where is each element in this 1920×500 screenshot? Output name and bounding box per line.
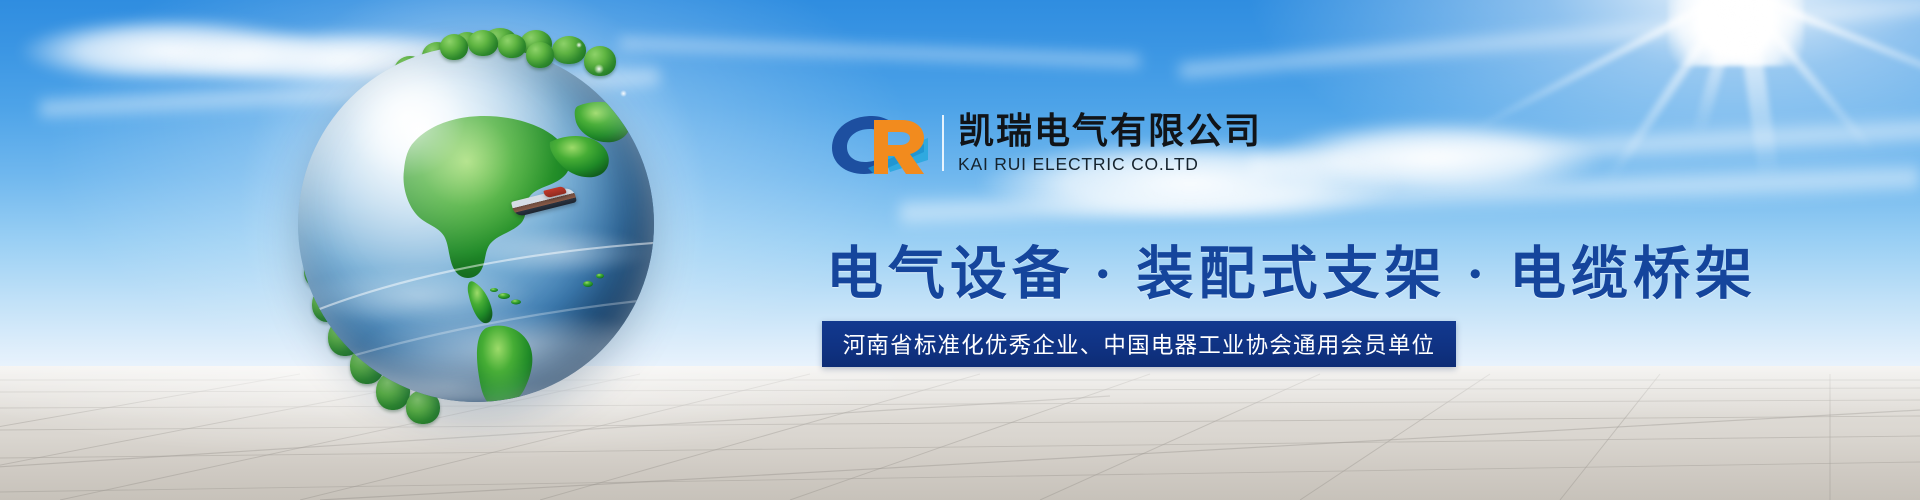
cr-monogram-logo [828, 108, 932, 178]
globe-sphere [298, 46, 654, 402]
sparkle [594, 64, 604, 74]
headline-text: 电气设备 · 装配式支架 · 电缆桥架 [826, 228, 1757, 310]
logo-divider [942, 115, 944, 171]
company-name-group: 凯瑞电气有限公司 KAI RUI ELECTRIC CO.LTD [958, 111, 1262, 175]
credentials-text: 河南省标准化优秀企业、中国电器工业协会通用会员单位 [843, 328, 1436, 360]
cr-monogram-icon [828, 108, 932, 178]
company-logo-block: 凯瑞电气有限公司 KAI RUI ELECTRIC CO.LTD [828, 108, 1262, 178]
green-earth-globe [276, 28, 672, 424]
company-name-en: KAI RUI ELECTRIC CO.LTD [958, 154, 1262, 175]
tree-icon [498, 34, 526, 58]
tree-icon [526, 42, 554, 68]
credentials-bar: 河南省标准化优秀企业、中国电器工业协会通用会员单位 [822, 321, 1456, 367]
hero-banner: 凯瑞电气有限公司 KAI RUI ELECTRIC CO.LTD 电气设备 · … [0, 0, 1920, 500]
continents [298, 46, 654, 402]
sparkle [576, 42, 582, 48]
tree-icon [440, 34, 468, 60]
tree-icon [468, 30, 498, 56]
company-name-cn: 凯瑞电气有限公司 [958, 111, 1262, 151]
sparkle [620, 90, 627, 97]
